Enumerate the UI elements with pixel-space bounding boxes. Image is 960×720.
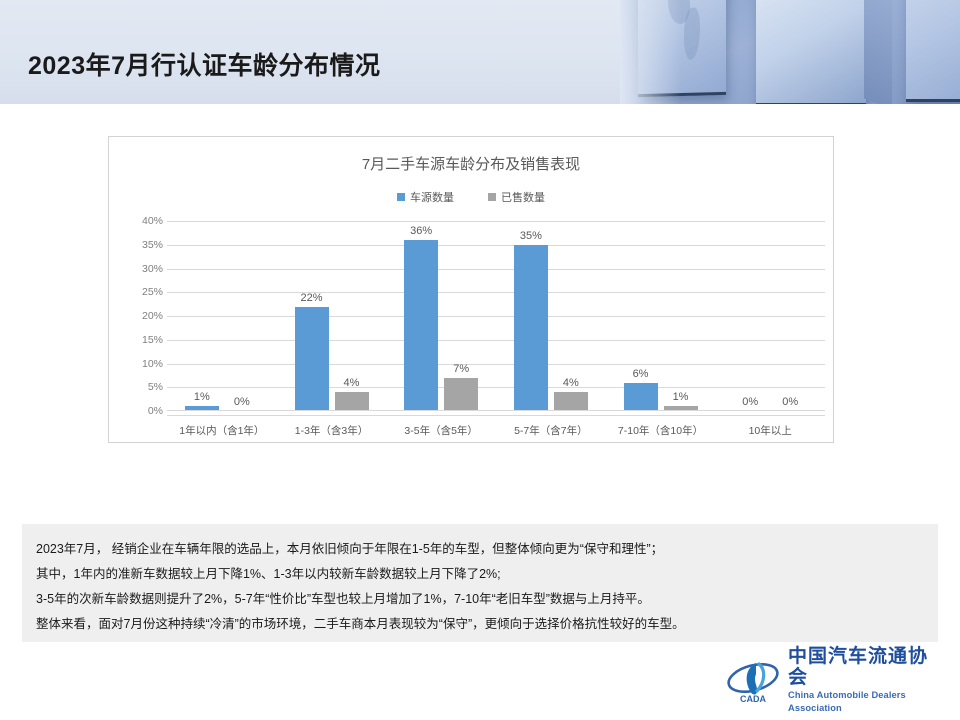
chart-bars: 1%0%22%4%36%7%35%4%6%1%0%0% [167, 221, 825, 411]
cada-emblem-icon: CADA [726, 658, 780, 704]
bar-group: 0%0% [715, 221, 825, 411]
bar-value-label: 7% [453, 363, 469, 375]
bar-value-label: 6% [633, 368, 649, 380]
bar[interactable] [624, 383, 658, 412]
bar-column[interactable]: 4% [335, 221, 369, 411]
chart-title: 7月二手车源车龄分布及销售表现 [109, 153, 833, 174]
bar-column[interactable]: 22% [295, 221, 329, 411]
bar-group: 1%0% [167, 221, 277, 411]
x-axis-line [167, 410, 825, 411]
legend-item-sold-count: 已售数量 [488, 189, 545, 205]
bar-column[interactable]: 36% [404, 221, 438, 411]
y-axis-tick-label: 0% [111, 405, 163, 417]
bar-value-label: 0% [742, 396, 758, 408]
logo-text-block: 中国汽车流通协会 China Automobile Dealers Associ… [788, 647, 940, 715]
bar-column[interactable]: 1% [664, 221, 698, 411]
bar-value-label: 36% [410, 225, 432, 237]
y-axis-tick-label: 30% [111, 263, 163, 275]
bar-value-label: 1% [194, 391, 210, 403]
bar[interactable] [514, 245, 548, 411]
y-axis-tick-label: 40% [111, 215, 163, 227]
bar-group: 6%1% [606, 221, 716, 411]
bar[interactable] [444, 378, 478, 411]
chart-card: 7月二手车源车龄分布及销售表现 车源数量 已售数量 40%35%30%25%20… [108, 136, 834, 443]
summary-note-box: 2023年7月， 经销企业在车辆年限的选品上，本月依旧倾向于年限在1-5年的车型… [22, 524, 938, 642]
decorative-cube-1 [638, 0, 726, 97]
legend-swatch-icon [488, 193, 496, 201]
y-axis-tick-label: 25% [111, 286, 163, 298]
note-line: 3-5年的次新车龄数据则提升了2%，5-7年“性价比”车型也较上月增加了1%，7… [36, 587, 924, 612]
bar-column[interactable]: 6% [624, 221, 658, 411]
bar[interactable] [295, 307, 329, 412]
bar-value-label: 0% [782, 396, 798, 408]
y-axis-tick-label: 15% [111, 334, 163, 346]
legend-label: 已售数量 [501, 189, 545, 205]
y-axis-tick-label: 5% [111, 381, 163, 393]
x-axis-tick-label: 1-3年（含3年） [277, 416, 387, 438]
bar-column[interactable]: 0% [773, 221, 807, 411]
bar-group: 36%7% [386, 221, 496, 411]
association-logo: CADA 中国汽车流通协会 China Automobile Dealers A… [726, 657, 940, 705]
bar-column[interactable]: 7% [444, 221, 478, 411]
bar-column[interactable]: 0% [225, 221, 259, 411]
x-axis-tick-label: 5-7年（含7年） [496, 416, 606, 438]
legend-item-source-count: 车源数量 [397, 189, 454, 205]
logo-name-cn: 中国汽车流通协会 [788, 647, 940, 689]
note-line: 其中，1年内的准新车数据较上月下降1%、1-3年以内较新车龄数据较上月下降了2%… [36, 562, 924, 587]
chart-legend: 车源数量 已售数量 [109, 189, 833, 205]
bar-group: 22%4% [277, 221, 387, 411]
bar[interactable] [404, 240, 438, 411]
legend-label: 车源数量 [410, 189, 454, 205]
x-axis-tick-label: 3-5年（含5年） [386, 416, 496, 438]
bar-column[interactable]: 1% [185, 221, 219, 411]
x-axis-tick-label: 10年以上 [715, 416, 825, 438]
x-axis-tick-label: 1年以内（含1年） [167, 416, 277, 438]
y-axis-tick-label: 20% [111, 310, 163, 322]
legend-swatch-icon [397, 193, 405, 201]
bar[interactable] [335, 392, 369, 411]
blue-cubes-world-map-image [620, 0, 960, 104]
y-axis: 40%35%30%25%20%15%10%5%0% [111, 221, 163, 411]
bar-column[interactable]: 0% [733, 221, 767, 411]
x-axis-tick-label: 7-10年（含10年） [606, 416, 716, 438]
slide-header: 2023年7月行认证车龄分布情况 [0, 0, 960, 104]
y-axis-tick-label: 35% [111, 239, 163, 251]
bar-column[interactable]: 4% [554, 221, 588, 411]
decorative-cube-3 [906, 0, 960, 102]
chart-plot-area: 40%35%30%25%20%15%10%5%0% 1%0%22%4%36%7%… [167, 221, 825, 411]
bar-group: 35%4% [496, 221, 606, 411]
note-line: 整体来看，面对7月份这种持续“冷清”的市场环境，二手车商本月表现较为“保守”，更… [36, 612, 924, 637]
x-axis: 1年以内（含1年）1-3年（含3年）3-5年（含5年）5-7年（含7年）7-10… [167, 415, 825, 438]
note-line: 2023年7月， 经销企业在车辆年限的选品上，本月依旧倾向于年限在1-5年的车型… [36, 537, 924, 562]
bar[interactable] [554, 392, 588, 411]
bar-value-label: 22% [300, 292, 322, 304]
bar-value-label: 4% [563, 377, 579, 389]
bar-column[interactable]: 35% [514, 221, 548, 411]
decorative-cube-2 [756, 0, 866, 104]
bar-value-label: 1% [673, 391, 689, 403]
logo-name-en: China Automobile Dealers Association [788, 689, 940, 715]
page-title: 2023年7月行认证车龄分布情况 [28, 46, 381, 82]
bar-value-label: 35% [520, 230, 542, 242]
y-axis-tick-label: 10% [111, 358, 163, 370]
bar-value-label: 4% [344, 377, 360, 389]
slide-root: 2023年7月行认证车龄分布情况 7月二手车源车龄分布及销售表现 车源数量 已售… [0, 0, 960, 720]
svg-text:CADA: CADA [740, 694, 766, 704]
bar-value-label: 0% [234, 396, 250, 408]
